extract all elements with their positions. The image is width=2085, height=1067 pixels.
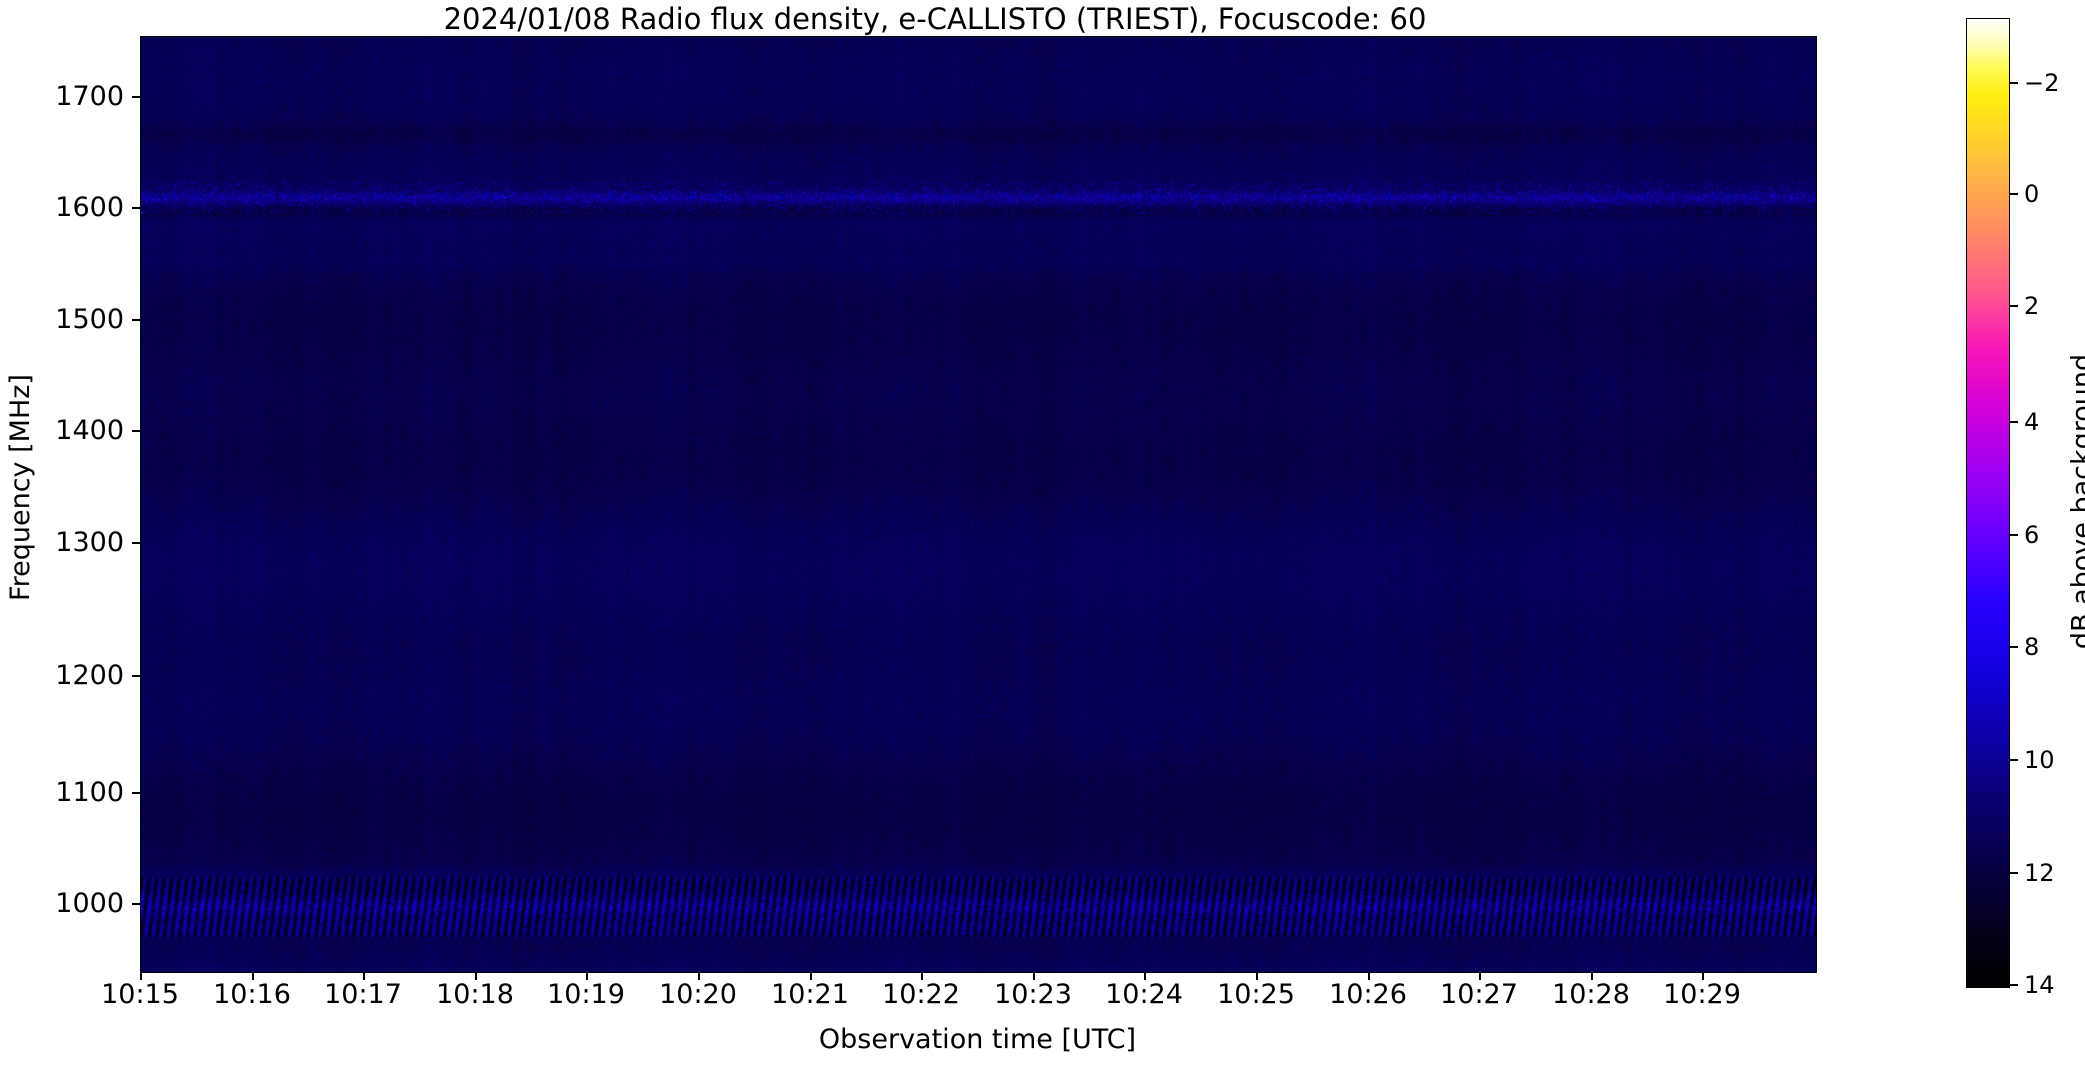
colorbar-tick-mark — [2009, 984, 2018, 986]
x-axis-label: Observation time [UTC] — [140, 1024, 1815, 1055]
x-axis-tick-label: 10:29 — [1622, 980, 1782, 1010]
y-axis-tick-label: 1100 — [4, 779, 124, 806]
colorbar-tick-label: 8 — [2024, 635, 2039, 659]
colorbar-tick-mark — [2009, 421, 2018, 423]
y-axis-tick-mark — [132, 675, 140, 677]
y-axis-tick-label: 1400 — [4, 417, 124, 444]
colorbar-tick-label: 14 — [2024, 973, 2055, 997]
colorbar-tick-label: 4 — [2024, 410, 2039, 434]
figure-title: 2024/01/08 Radio flux density, e-CALLIST… — [0, 2, 1870, 36]
colorbar-tick-label: 0 — [2024, 182, 2039, 206]
y-axis-tick-mark — [132, 430, 140, 432]
y-axis-tick-mark — [132, 96, 140, 98]
y-axis-tick-label: 1200 — [4, 662, 124, 689]
colorbar-tick-mark — [2009, 305, 2018, 307]
colorbar-tick-label: 6 — [2024, 523, 2039, 547]
colorbar-tick-label: −2 — [2024, 71, 2059, 95]
colorbar — [1966, 18, 2010, 988]
y-axis-tick-label: 1500 — [4, 306, 124, 333]
y-axis-tick-mark — [132, 319, 140, 321]
y-axis-label: Frequency [MHz] — [5, 20, 36, 955]
colorbar-tick-mark — [2009, 193, 2018, 195]
colorbar-tick-mark — [2009, 646, 2018, 648]
y-axis-tick-label: 1700 — [4, 83, 124, 110]
y-axis-tick-mark — [132, 207, 140, 209]
spectrogram-image — [141, 37, 1816, 972]
colorbar-tick-label: 2 — [2024, 294, 2039, 318]
spectrogram-axes — [140, 36, 1817, 973]
spectrogram-figure: 2024/01/08 Radio flux density, e-CALLIST… — [0, 0, 2085, 1067]
colorbar-tick-mark — [2009, 872, 2018, 874]
colorbar-tick-label: 12 — [2024, 861, 2055, 885]
colorbar-tick-mark — [2009, 82, 2018, 84]
y-axis-tick-label: 1000 — [4, 890, 124, 917]
colorbar-tick-label: 10 — [2024, 748, 2055, 772]
colorbar-tick-mark — [2009, 759, 2018, 761]
y-axis-tick-mark — [132, 542, 140, 544]
y-axis-tick-label: 1300 — [4, 529, 124, 556]
y-axis-tick-label: 1600 — [4, 194, 124, 221]
colorbar-label: dB above background — [2067, 18, 2085, 986]
colorbar-tick-mark — [2009, 534, 2018, 536]
y-axis-tick-mark — [132, 903, 140, 905]
y-axis-tick-mark — [132, 792, 140, 794]
